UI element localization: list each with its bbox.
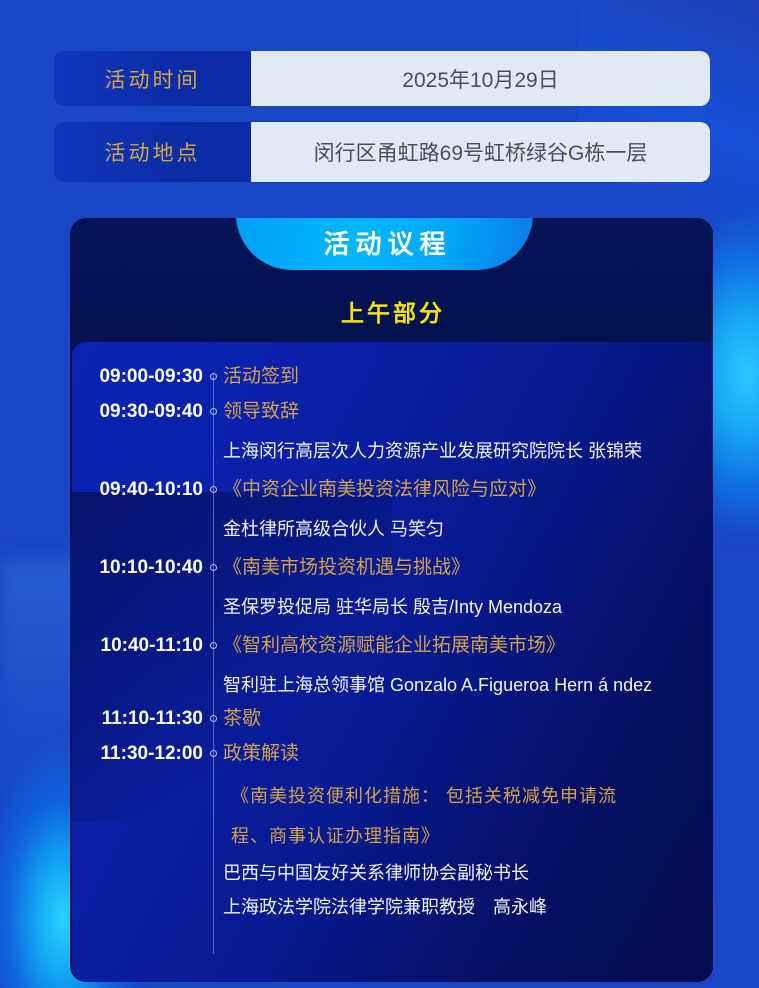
agenda-entry-time: 10:10-10:40 [72, 555, 203, 581]
agenda-entry-time: 09:00-09:30 [72, 364, 203, 390]
agenda-entry-detail: 智利驻上海总领事馆 Gonzalo A.Figueroa Hern á ndez [223, 668, 713, 702]
timeline-dot-icon [203, 477, 223, 493]
agenda-entry-detail: 圣保罗投促局 驻华局长 殷吉/Inty Mendoza [223, 590, 713, 624]
agenda-entry: 10:40-11:10 《智利高校资源赋能企业拓展南美市场》 智利驻上海总领事馆… [72, 633, 713, 702]
agenda-entry-time: 09:40-10:10 [72, 477, 203, 503]
timeline-dot-icon [203, 555, 223, 571]
agenda-entry-time: 11:10-11:30 [72, 706, 203, 732]
info-row-event-time: 活动时间 2025年10月29日 [54, 51, 710, 106]
timeline-dot-icon [203, 364, 223, 380]
info-label-event-location: 活动地点 [54, 122, 251, 182]
agenda-banner-label: 活动议程 [317, 224, 451, 261]
info-value-event-time: 2025年10月29日 [251, 51, 710, 106]
timeline-dot-icon [203, 633, 223, 649]
agenda-entry-detail: 上海政法学院法律学院兼职教授 高永峰 [223, 890, 713, 924]
agenda-entry-title: 《中资企业南美投资法律风险与应对》 [223, 477, 713, 503]
info-row-event-location: 活动地点 闵行区甬虹路69号虹桥绿谷G栋一层 [54, 122, 710, 182]
agenda-card: 活动议程 上午部分 09:00-09:30 活动签到 09:3 [70, 218, 713, 982]
agenda-banner: 活动议程 [236, 218, 533, 270]
agenda-section-title: 上午部分 [70, 294, 713, 328]
agenda-entry: 10:10-10:40 《南美市场投资机遇与挑战》 圣保罗投促局 驻华局长 殷吉… [72, 555, 713, 624]
agenda-entry-detail: 金杜律所高级合伙人 马笑匀 [223, 512, 713, 546]
agenda-entry-title: 《南美市场投资机遇与挑战》 [223, 555, 713, 581]
agenda-entry-time: 09:30-09:40 [72, 399, 203, 425]
timeline-dot-icon [203, 399, 223, 415]
agenda-entry-time: 10:40-11:10 [72, 633, 203, 659]
agenda-entry-detail: 上海闵行高层次人力资源产业发展研究院院长 张锦荣 [223, 434, 713, 468]
agenda-timeline-panel: 09:00-09:30 活动签到 09:30-09:40 领导致辞 上海闵行高层… [72, 342, 713, 982]
agenda-entry: 11:10-11:30 茶歇 [72, 706, 713, 741]
agenda-timeline: 09:00-09:30 活动签到 09:30-09:40 领导致辞 上海闵行高层… [72, 342, 713, 924]
agenda-entry-title: 茶歇 [223, 706, 713, 732]
agenda-entry-title: 活动签到 [223, 364, 713, 390]
agenda-entry: 09:40-10:10 《中资企业南美投资法律风险与应对》 金杜律所高级合伙人 … [72, 477, 713, 546]
agenda-entry: 09:30-09:40 领导致辞 上海闵行高层次人力资源产业发展研究院院长 张锦… [72, 399, 713, 468]
agenda-entry-detail: 《南美投资便利化措施： 包括关税减免申请流 [231, 776, 713, 816]
timeline-dot-icon [203, 741, 223, 757]
agenda-entry-title: 《智利高校资源赋能企业拓展南美市场》 [223, 633, 713, 659]
agenda-entry: 09:00-09:30 活动签到 [72, 364, 713, 399]
event-info-table: 活动时间 2025年10月29日 活动地点 闵行区甬虹路69号虹桥绿谷G栋一层 [54, 51, 710, 198]
poster-page: 活动时间 2025年10月29日 活动地点 闵行区甬虹路69号虹桥绿谷G栋一层 … [0, 0, 759, 988]
agenda-entry-time: 11:30-12:00 [72, 741, 203, 767]
info-value-event-location: 闵行区甬虹路69号虹桥绿谷G栋一层 [251, 122, 710, 182]
agenda-entry-detail: 巴西与中国友好关系律师协会副秘书长 [223, 856, 713, 890]
agenda-entry-title: 政策解读 [223, 741, 713, 767]
info-label-event-time: 活动时间 [54, 51, 251, 106]
agenda-entry-title: 领导致辞 [223, 399, 713, 425]
agenda-entry: 11:30-12:00 政策解读 《南美投资便利化措施： 包括关税减免申请流 程… [72, 741, 713, 924]
timeline-dot-icon [203, 706, 223, 722]
agenda-entry-detail: 程、商事认证办理指南》 [231, 816, 713, 856]
